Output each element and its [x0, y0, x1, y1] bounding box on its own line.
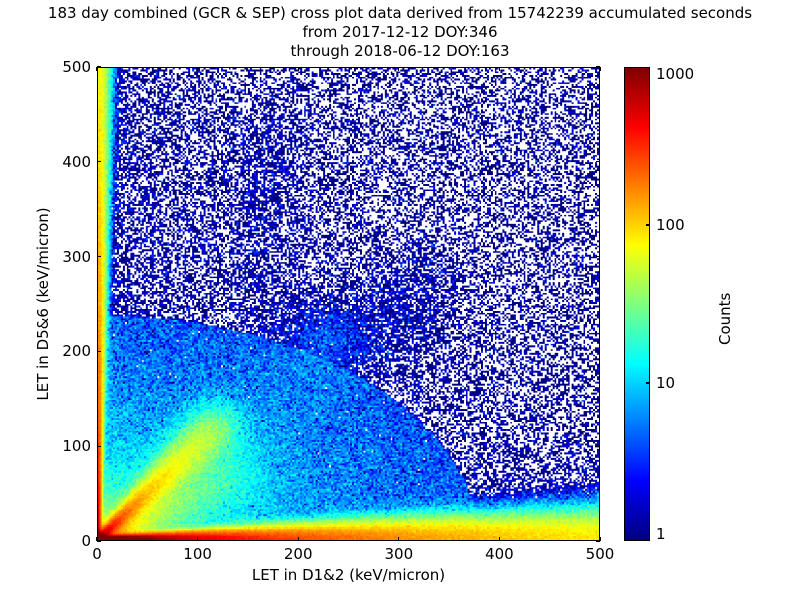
x-tick-bottom-200: [298, 537, 299, 541]
x-tick-bottom-400: [499, 537, 500, 541]
x-tick-top-0: [96, 67, 97, 71]
y-tick-label-300: 300: [62, 248, 91, 266]
x-tick-top-400: [499, 67, 500, 71]
y-tick-left-300: [97, 256, 101, 257]
y-axis-label: LET in D5&6 (keV/micron): [34, 67, 52, 541]
x-tick-label-500: 500: [586, 545, 615, 563]
y-tick-label-0: 0: [81, 532, 91, 550]
x-tick-top-200: [298, 67, 299, 71]
y-tick-right-100: [596, 446, 600, 447]
colorbar-tick-label-1000: 1000: [656, 65, 694, 83]
x-tick-top-500: [599, 67, 600, 71]
colorbar-gradient: [625, 68, 649, 540]
y-tick-left-200: [97, 351, 101, 352]
y-tick-left-400: [97, 161, 101, 162]
y-tick-left-100: [97, 446, 101, 447]
figure-canvas: 183 day combined (GCR & SEP) cross plot …: [0, 0, 800, 600]
colorbar-tick-label-1: 1: [656, 525, 666, 543]
plot-axes: [97, 67, 600, 541]
x-tick-label-200: 200: [284, 545, 313, 563]
y-tick-left-500: [97, 66, 101, 67]
colorbar: [624, 67, 650, 541]
x-tick-bottom-300: [398, 537, 399, 541]
x-tick-bottom-100: [197, 537, 198, 541]
y-tick-left-0: [97, 540, 101, 541]
y-tick-label-100: 100: [62, 437, 91, 455]
colorbar-tick-label-100: 100: [656, 216, 685, 234]
title-line-2: from 2017-12-12 DOY:346: [0, 23, 800, 42]
y-tick-right-200: [596, 351, 600, 352]
y-tick-label-200: 200: [62, 342, 91, 360]
colorbar-label: Counts: [716, 293, 734, 345]
colorbar-tick-10: [646, 382, 650, 383]
figure-title: 183 day combined (GCR & SEP) cross plot …: [0, 4, 800, 61]
title-line-1: 183 day combined (GCR & SEP) cross plot …: [0, 4, 800, 23]
x-tick-label-300: 300: [384, 545, 413, 563]
x-tick-top-100: [197, 67, 198, 71]
y-tick-right-300: [596, 256, 600, 257]
x-axis-label: LET in D1&2 (keV/micron): [97, 566, 600, 584]
x-tick-label-100: 100: [183, 545, 212, 563]
x-tick-label-400: 400: [485, 545, 514, 563]
title-line-3: through 2018-06-12 DOY:163: [0, 42, 800, 61]
density-scatter-plot: [98, 68, 599, 540]
colorbar-tick-100: [646, 224, 650, 225]
y-tick-right-500: [596, 66, 600, 67]
y-tick-label-400: 400: [62, 153, 91, 171]
x-tick-label-0: 0: [92, 545, 102, 563]
y-tick-label-500: 500: [62, 58, 91, 76]
y-tick-right-400: [596, 161, 600, 162]
x-tick-top-300: [398, 67, 399, 71]
colorbar-tick-label-10: 10: [656, 374, 675, 392]
y-tick-right-0: [596, 540, 600, 541]
